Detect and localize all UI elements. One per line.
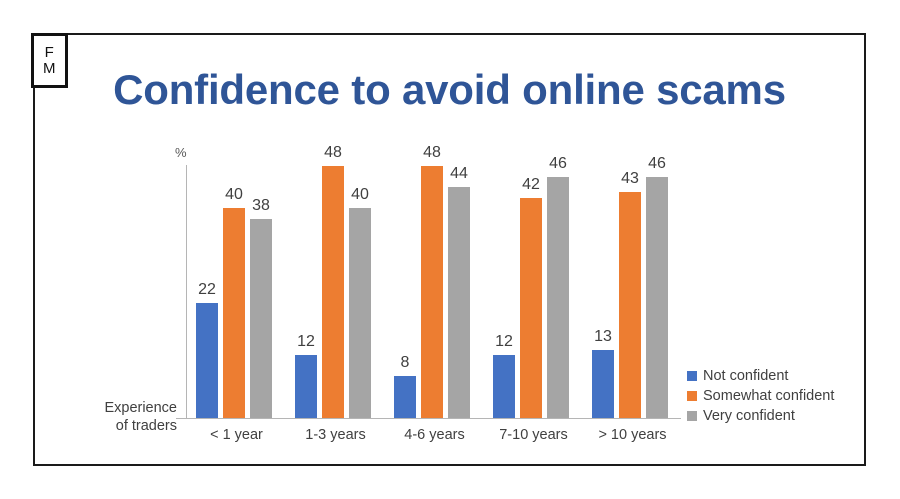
x-axis-title-line1: Experience bbox=[62, 399, 177, 417]
bar-value-label: 8 bbox=[401, 354, 410, 372]
bar-value-label: 22 bbox=[198, 281, 216, 299]
bar-0-0[interactable]: 22 bbox=[196, 303, 218, 419]
legend-item-0[interactable]: Not confident bbox=[687, 367, 834, 385]
x-axis-title-line2: of traders bbox=[62, 417, 177, 435]
bar-0-1[interactable]: 12 bbox=[295, 355, 317, 418]
bar-1-1[interactable]: 48 bbox=[322, 166, 344, 418]
legend-swatch-icon bbox=[687, 391, 697, 401]
bar-value-label: 38 bbox=[252, 197, 270, 215]
bar-value-label: 12 bbox=[297, 333, 315, 351]
fm-logo-letter-m: M bbox=[43, 61, 56, 76]
bar-group: 224038< 1 year bbox=[187, 0, 286, 499]
bar-value-label: 40 bbox=[351, 186, 369, 204]
bar-group: 134346> 10 years bbox=[583, 0, 682, 499]
x-axis-category-label: < 1 year bbox=[187, 427, 286, 443]
bar-0-4[interactable]: 13 bbox=[592, 350, 614, 418]
bar-value-label: 48 bbox=[324, 144, 342, 162]
bar-group: 1242467-10 years bbox=[484, 0, 583, 499]
y-axis-origin-tick bbox=[177, 418, 186, 419]
bar-group: 848444-6 years bbox=[385, 0, 484, 499]
chart-legend: Not confidentSomewhat confidentVery conf… bbox=[687, 367, 834, 427]
legend-swatch-icon bbox=[687, 371, 697, 381]
bar-value-label: 46 bbox=[549, 155, 567, 173]
bar-2-3[interactable]: 46 bbox=[547, 177, 569, 419]
bar-chart: % Experience of traders 224038< 1 year12… bbox=[0, 0, 900, 499]
bar-value-label: 46 bbox=[648, 155, 666, 173]
legend-item-1[interactable]: Somewhat confident bbox=[687, 387, 834, 405]
legend-swatch-icon bbox=[687, 411, 697, 421]
bar-2-2[interactable]: 44 bbox=[448, 187, 470, 418]
bar-0-2[interactable]: 8 bbox=[394, 376, 416, 418]
bar-value-label: 44 bbox=[450, 165, 468, 183]
x-axis-category-label: > 10 years bbox=[583, 427, 682, 443]
bar-1-2[interactable]: 48 bbox=[421, 166, 443, 418]
bar-2-0[interactable]: 38 bbox=[250, 219, 272, 419]
bar-value-label: 42 bbox=[522, 176, 540, 194]
legend-label: Very confident bbox=[703, 408, 795, 424]
bar-value-label: 40 bbox=[225, 186, 243, 204]
bar-2-1[interactable]: 40 bbox=[349, 208, 371, 418]
legend-item-2[interactable]: Very confident bbox=[687, 407, 834, 425]
bar-value-label: 48 bbox=[423, 144, 441, 162]
fm-logo-letter-f: F bbox=[45, 45, 55, 60]
bar-group: 1248401-3 years bbox=[286, 0, 385, 499]
bar-1-3[interactable]: 42 bbox=[520, 198, 542, 419]
x-axis-category-label: 4-6 years bbox=[385, 427, 484, 443]
legend-label: Not confident bbox=[703, 368, 788, 384]
bar-value-label: 13 bbox=[594, 328, 612, 346]
x-axis-title: Experience of traders bbox=[62, 399, 177, 435]
x-axis-category-label: 7-10 years bbox=[484, 427, 583, 443]
bar-value-label: 43 bbox=[621, 170, 639, 188]
x-axis-category-label: 1-3 years bbox=[286, 427, 385, 443]
bar-0-3[interactable]: 12 bbox=[493, 355, 515, 418]
legend-label: Somewhat confident bbox=[703, 388, 834, 404]
bar-value-label: 12 bbox=[495, 333, 513, 351]
bar-2-4[interactable]: 46 bbox=[646, 177, 668, 419]
bar-1-0[interactable]: 40 bbox=[223, 208, 245, 418]
bar-1-4[interactable]: 43 bbox=[619, 192, 641, 418]
bar-groups: 224038< 1 year1248401-3 years848444-6 ye… bbox=[187, 0, 682, 499]
slide-canvas: F M Confidence to avoid online scams % E… bbox=[0, 0, 900, 499]
y-axis-unit-label: % bbox=[175, 145, 187, 160]
fm-logo: F M bbox=[31, 33, 68, 88]
